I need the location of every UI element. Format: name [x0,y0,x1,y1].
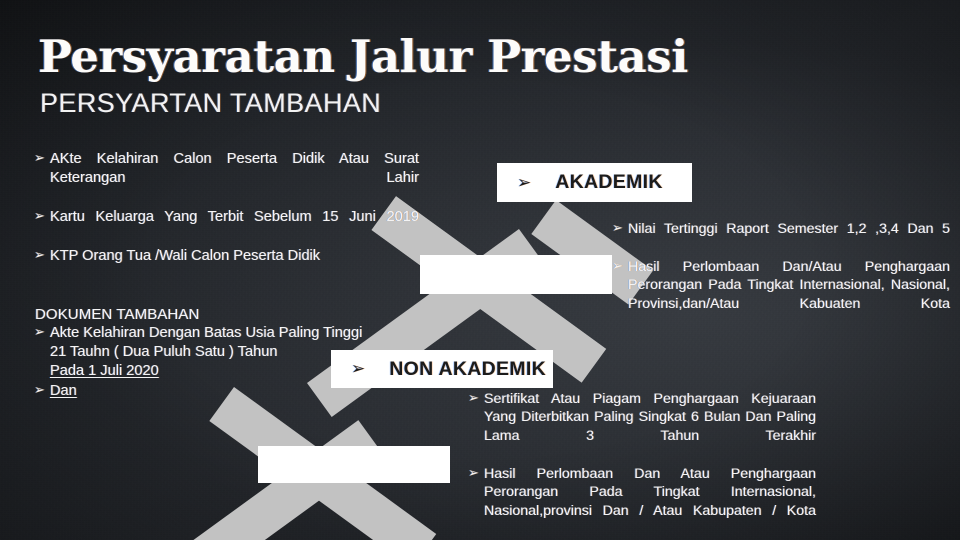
list-item: ➢ KTP Orang Tua /Wali Calon Peserta Didi… [34,247,419,285]
bullet-arrow-icon: ➢ [517,173,531,193]
list-item-label: Sertifikat Atau Piagam Penghargaan Kejua… [484,390,816,464]
category-label-text: AKADEMIK [555,171,662,194]
step-box-middle [420,255,612,294]
bullet-arrow-icon: ➢ [34,324,50,341]
akademik-criteria-list: ➢ Nilai Tertinggi Raport Semester 1,2 ,3… [612,220,950,333]
slide-canvas: Persyaratan Jalur Prestasi PERSYARTAN TA… [0,0,960,540]
bullet-arrow-icon: ➢ [612,220,628,237]
page-subtitle: PERSYARTAN TAMBAHAN [40,88,381,119]
bullet-arrow-icon: ➢ [468,390,484,407]
list-item: ➢ Hasil Perlombaan Dan/Atau Penghargaan … [612,258,950,332]
non-akademik-criteria-list: ➢ Sertifikat Atau Piagam Penghargaan Kej… [468,390,816,540]
requirements-list-primary: ➢ AKte Kelahiran Calon Peserta Didik Ata… [34,150,419,286]
bullet-arrow-icon: ➢ [612,258,628,275]
list-item-line-2: 21 Tauhn ( Dua Puluh Satu ) Tahun [50,344,277,360]
bullet-arrow-icon: ➢ [34,208,50,225]
list-item-line-1: Akte Kelahiran Dengan Batas Usia Paling … [50,325,362,341]
step-box-bottom [258,446,450,483]
bullet-arrow-icon: ➢ [468,465,484,482]
list-item-label: AKte Kelahiran Calon Peserta Didik Atau … [50,150,419,207]
list-item: ➢ Akte Kelahiran Dengan Batas Usia Palin… [34,324,414,381]
list-item: ➢ Sertifikat Atau Piagam Penghargaan Kej… [468,390,816,464]
list-item: ➢ Dan [34,382,414,401]
additional-documents-heading: DOKUMEN TAMBAHAN [35,306,199,323]
list-item-label: Dan [50,382,77,401]
list-item-label: Hasil Perlombaan Dan/Atau Penghargaan Pe… [628,258,950,332]
list-item: ➢ Hasil Perlombaan Dan Atau Penghargaan … [468,465,816,539]
list-item-label: Kartu Keluarga Yang Terbit Sebelum 15 Ju… [50,208,419,246]
bullet-arrow-icon: ➢ [34,382,50,399]
bullet-arrow-icon: ➢ [34,150,50,167]
list-item-label: Akte Kelahiran Dengan Batas Usia Paling … [50,324,414,381]
list-item-label: Hasil Perlombaan Dan Atau Penghargaan Pe… [484,465,816,539]
list-item-line-3: Pada 1 Juli 2020 [50,363,159,379]
list-item-label: Nilai Tertinggi Raport Semester 1,2 ,3,4… [628,220,950,257]
page-title: Persyaratan Jalur Prestasi [38,34,688,80]
list-item: ➢ AKte Kelahiran Calon Peserta Didik Ata… [34,150,419,207]
list-item-label: KTP Orang Tua /Wali Calon Peserta Didik [50,247,419,285]
list-item: ➢ Kartu Keluarga Yang Terbit Sebelum 15 … [34,208,419,246]
list-item: ➢ Nilai Tertinggi Raport Semester 1,2 ,3… [612,220,950,257]
requirements-list-additional: ➢ Akte Kelahiran Dengan Batas Usia Palin… [34,324,414,402]
bullet-arrow-icon: ➢ [34,247,50,264]
category-label-akademik[interactable]: ➢ AKADEMIK [497,163,692,202]
